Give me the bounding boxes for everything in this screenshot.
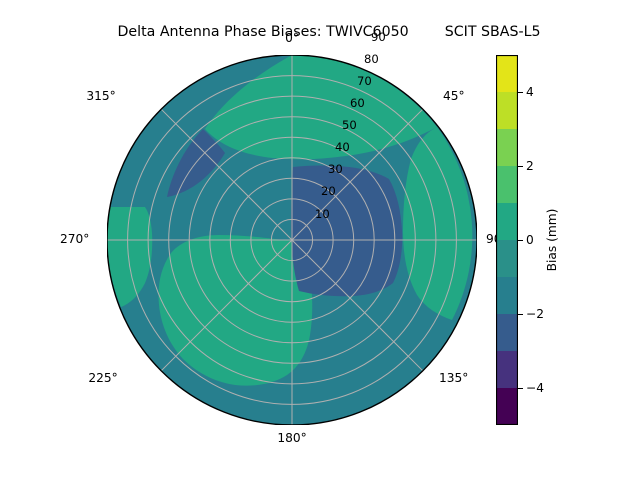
theta-tick-45: 45° <box>443 89 465 103</box>
colorbar <box>496 55 518 425</box>
r-tick-30: 30 <box>328 162 343 176</box>
colorbar-bands <box>496 55 518 425</box>
colorbar-tick-4: 4 <box>526 85 534 99</box>
theta-tick-315: 315° <box>86 89 115 103</box>
r-tick-70: 70 <box>357 74 372 88</box>
colorbar-tickmark-2 <box>518 166 523 167</box>
theta-tick-225: 225° <box>88 371 117 385</box>
colorbar-tickmark-neg2 <box>518 314 523 315</box>
title-secondary-text: SCIT SBAS-L5 <box>445 24 541 40</box>
colorbar-tickmark-0 <box>518 240 523 241</box>
theta-tick-270: 270° <box>60 232 89 246</box>
colorbar-gradient-svg <box>496 55 518 425</box>
colorbar-tickmark-4 <box>518 92 523 93</box>
polar-chart-figure: Delta Antenna Phase Biases: TWIVC6050 SC… <box>0 0 640 480</box>
theta-tick-135: 135° <box>439 371 468 385</box>
colorbar-tick-neg2: −2 <box>526 307 544 321</box>
colorbar-tick-0: 0 <box>526 233 534 247</box>
title-main-text: Delta Antenna Phase Biases: TWIVC6050 <box>117 24 408 40</box>
r-tick-80: 80 <box>364 52 379 66</box>
polar-plot-area: 0° 45° 90 135° 180° 225° 270° 315° 10 20… <box>107 55 477 425</box>
colorbar-tick-neg4: −4 <box>526 381 544 395</box>
r-tick-20: 20 <box>321 184 336 198</box>
r-tick-10: 10 <box>315 207 330 221</box>
theta-tick-180: 180° <box>277 431 306 445</box>
colorbar-tick-2: 2 <box>526 159 534 173</box>
theta-tick-0: 0° <box>285 31 299 45</box>
r-tick-90: 90 <box>371 30 386 44</box>
page-title: Delta Antenna Phase Biases: TWIVC6050 SC… <box>0 8 640 56</box>
r-tick-40: 40 <box>335 140 350 154</box>
r-tick-60: 60 <box>350 96 365 110</box>
colorbar-tickmark-neg4 <box>518 388 523 389</box>
polar-contour-svg <box>107 55 477 425</box>
colorbar-axis-label: Bias (mm) <box>545 209 559 272</box>
title-gap <box>409 24 445 40</box>
polar-grid-spokes <box>107 55 477 425</box>
r-tick-50: 50 <box>342 118 357 132</box>
